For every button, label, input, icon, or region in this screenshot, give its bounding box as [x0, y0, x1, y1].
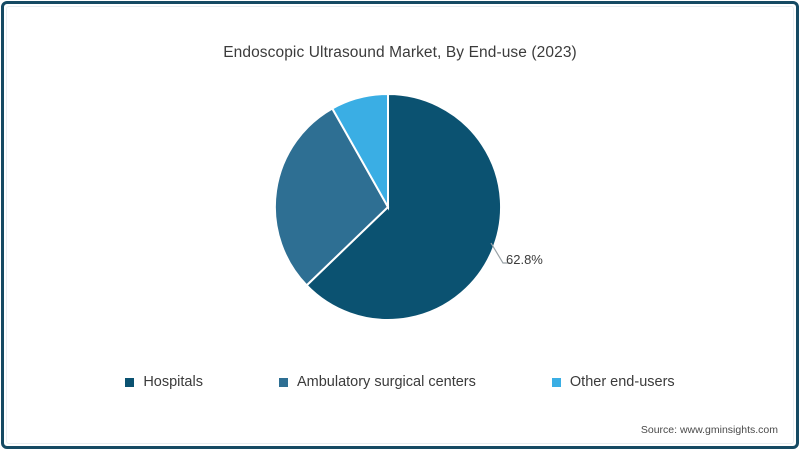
legend-item-other-end-users[interactable]: Other end-users — [552, 374, 675, 390]
legend-item-ambulatory-surgical-centers[interactable]: Ambulatory surgical centers — [279, 374, 476, 390]
pie-data-label-hospitals: 62.8% — [506, 252, 543, 267]
legend-swatch-icon-ambulatory-surgical-centers — [279, 378, 288, 387]
legend-label-ambulatory-surgical-centers: Ambulatory surgical centers — [297, 374, 476, 390]
chart-title: Endoscopic Ultrasound Market, By End-use… — [0, 44, 800, 62]
source-attribution: Source: www.gminsights.com — [641, 424, 778, 436]
legend-swatch-icon-other-end-users — [552, 378, 561, 387]
chart-legend: Hospitals Ambulatory surgical centers Ot… — [0, 374, 800, 390]
legend-label-hospitals: Hospitals — [143, 374, 203, 390]
legend-swatch-icon-hospitals — [125, 378, 134, 387]
chart-screenshot: Endoscopic Ultrasound Market, By End-use… — [0, 0, 800, 450]
pie-chart — [272, 93, 504, 321]
legend-item-hospitals[interactable]: Hospitals — [125, 374, 203, 390]
legend-label-other-end-users: Other end-users — [570, 374, 675, 390]
pie-chart-svg — [272, 93, 504, 321]
